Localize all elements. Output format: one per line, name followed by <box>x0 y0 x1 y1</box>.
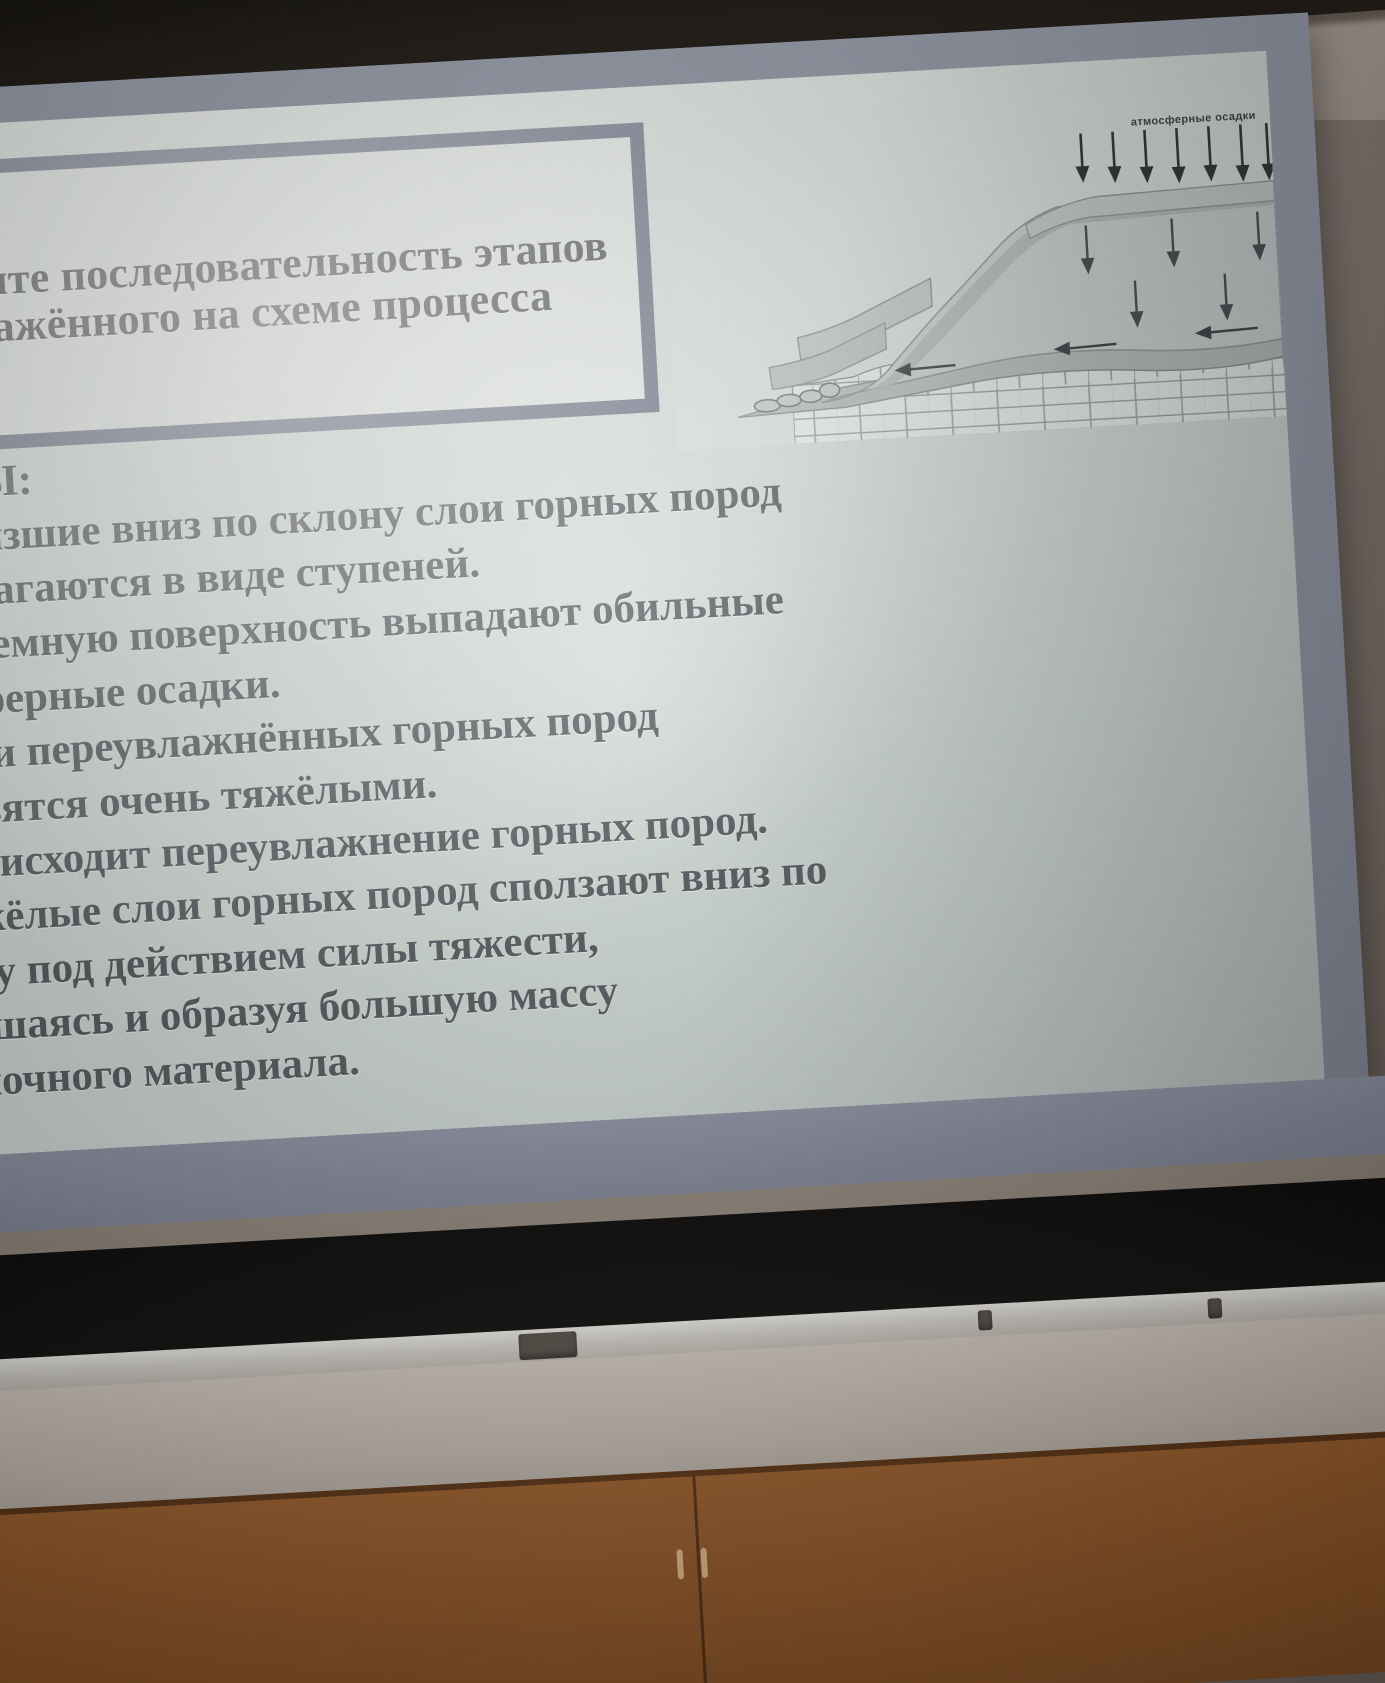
slide-title-panel: Установите последовательность этапов ото… <box>0 122 660 460</box>
cabinet-door-seam <box>692 1476 708 1683</box>
tray-bracket <box>1207 1298 1222 1319</box>
page-title: Установите последовательность этапов ото… <box>0 221 640 362</box>
cabinet-handle-left[interactable] <box>676 1549 684 1579</box>
classroom-photo-scene: Установите последовательность этапов ото… <box>0 0 1385 1683</box>
tray-bracket <box>978 1310 993 1331</box>
projected-slide: Установите последовательность этапов ото… <box>0 51 1324 1158</box>
cabinet-handle-right[interactable] <box>700 1548 708 1578</box>
tray-bracket <box>518 1331 577 1360</box>
projection-board: Установите последовательность этапов ото… <box>0 12 1378 1321</box>
stages-list: ЭТАПЫ: 1) Сползшие вниз по склону слои г… <box>0 381 1306 1114</box>
